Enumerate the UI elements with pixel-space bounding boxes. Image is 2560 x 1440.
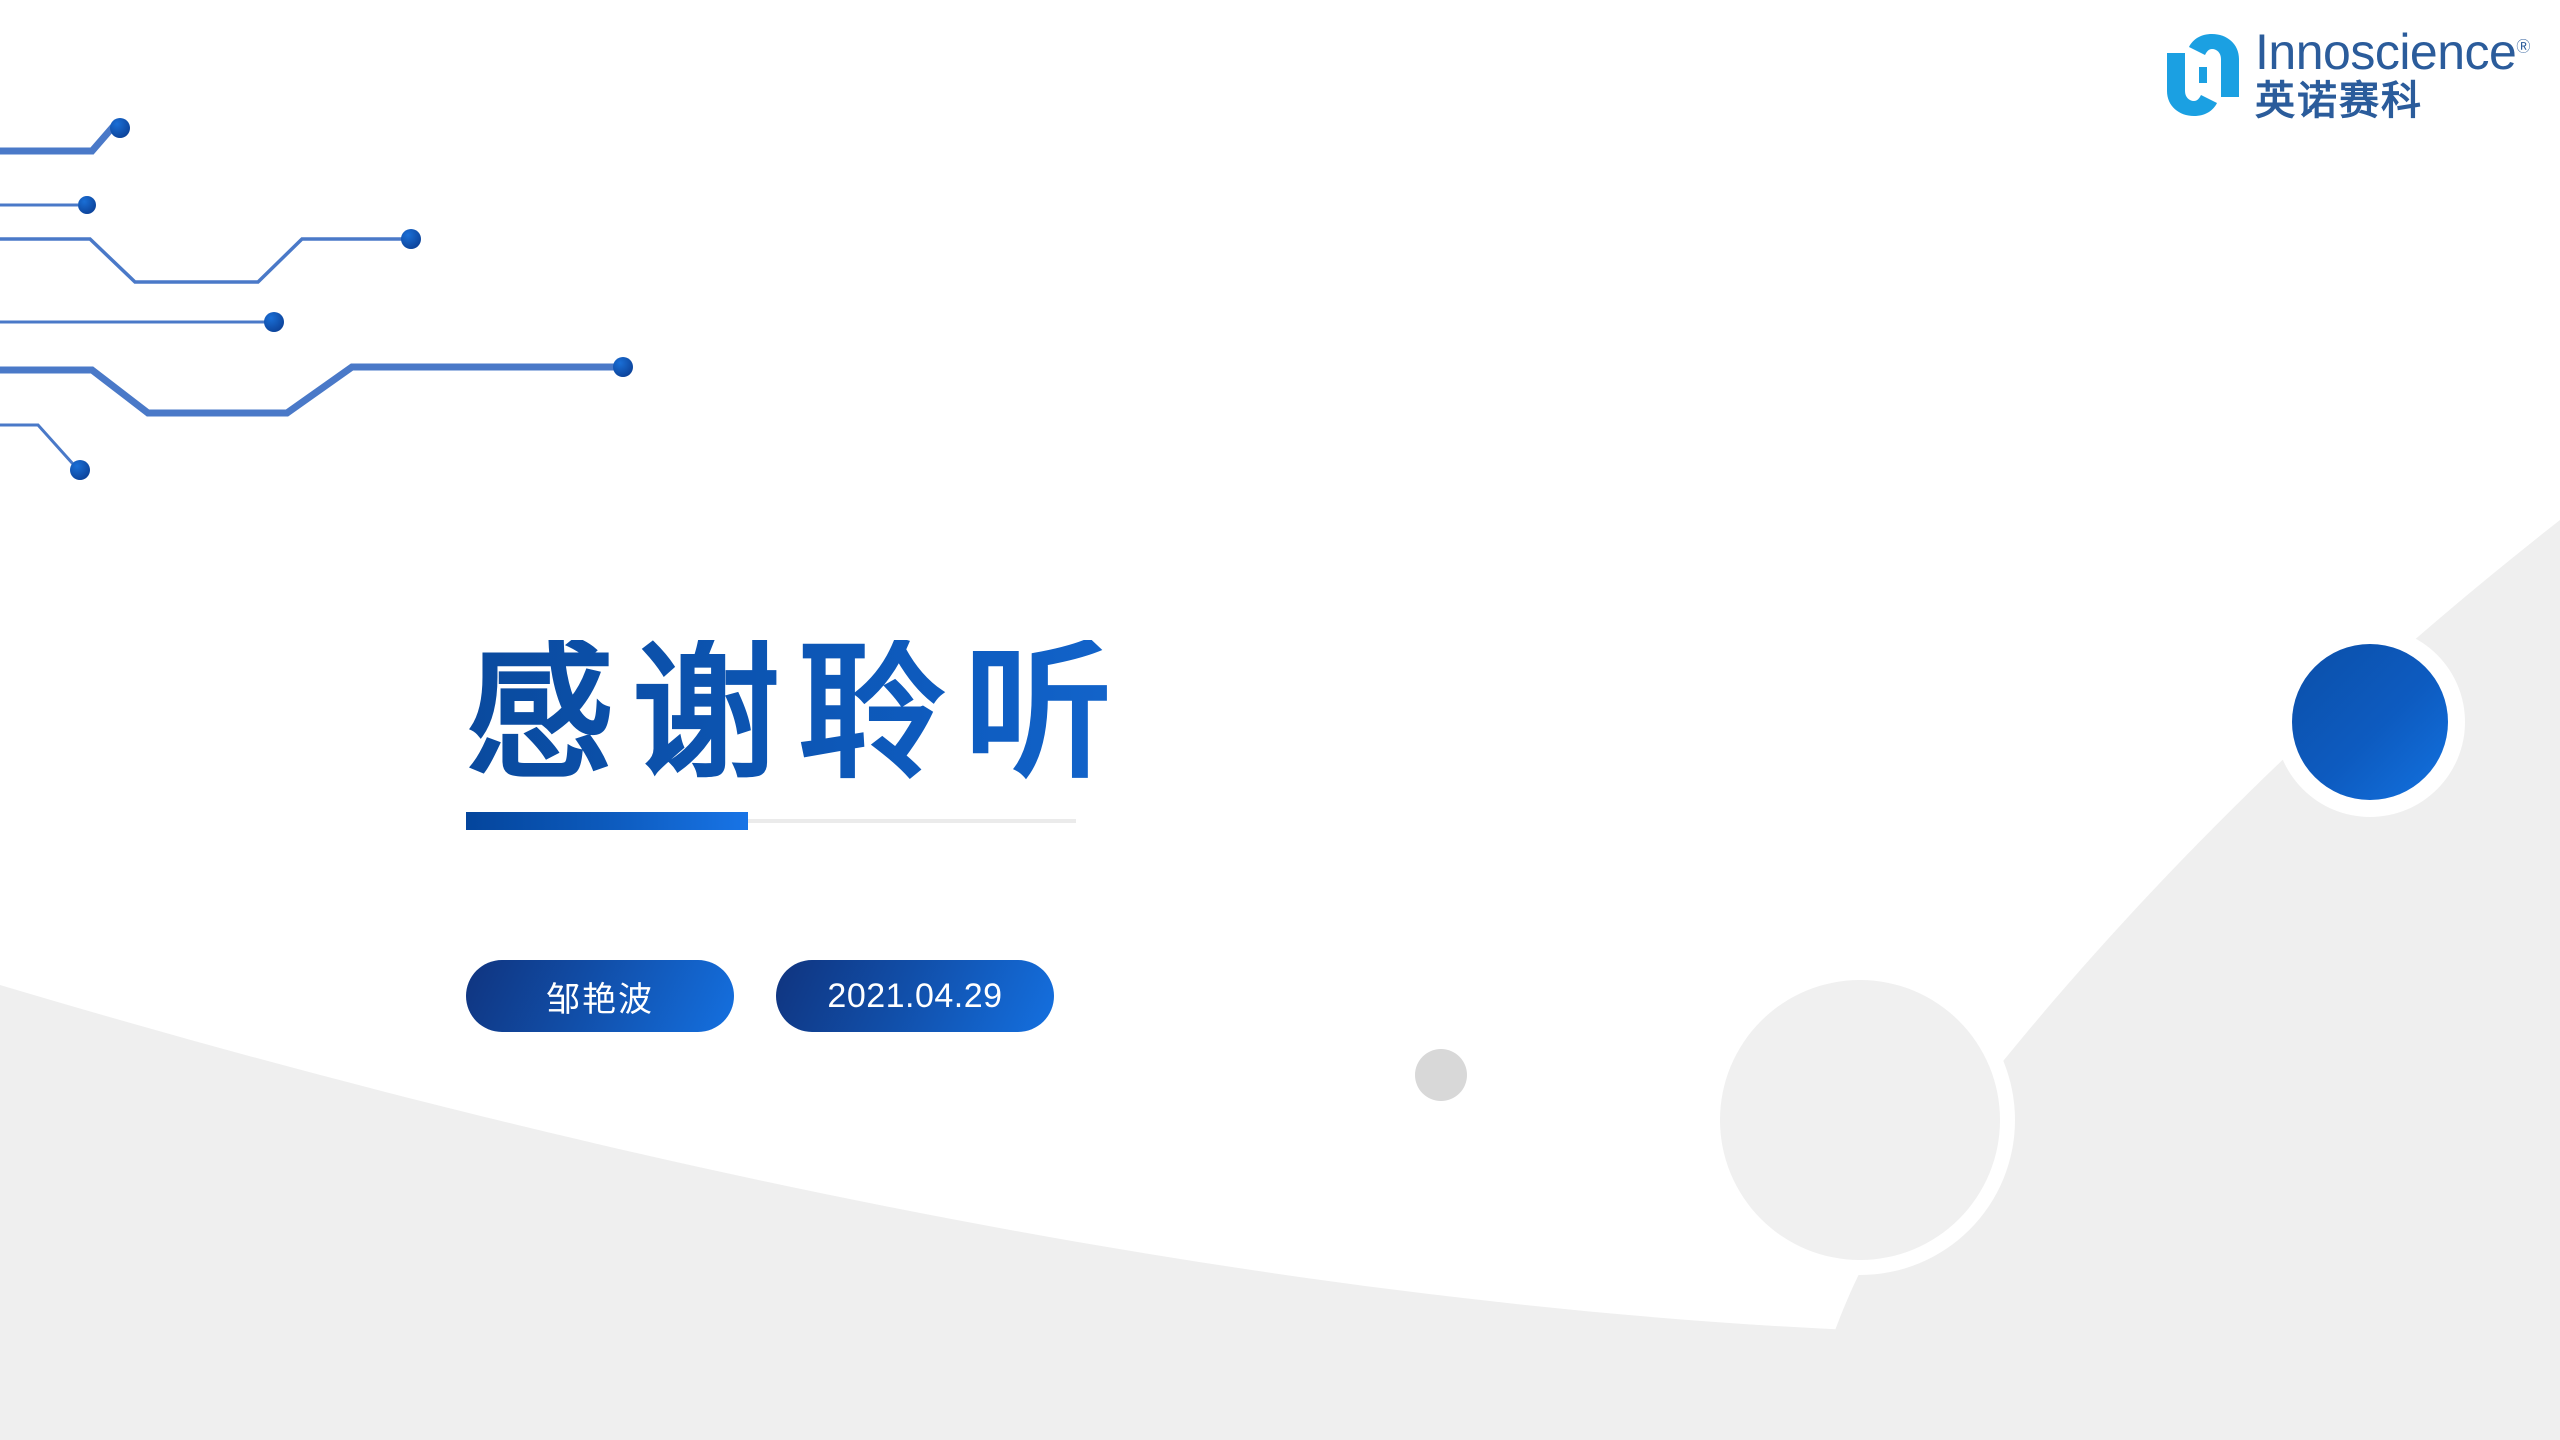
meta-badges: 邹艳波 2021.04.29 <box>466 960 1054 1032</box>
title-block: 感谢聆听 <box>466 640 1566 830</box>
circuit-node-4 <box>264 312 284 332</box>
blue-circle-halo <box>2275 627 2465 817</box>
logo-text-block: InnoscienceⓇ 英诺赛科 <box>2255 27 2530 122</box>
decorative-gray-circle <box>1720 980 2000 1260</box>
gray-circle-halo <box>1705 965 2015 1275</box>
gray-wedge-right <box>1805 520 2560 1440</box>
title-underline <box>466 812 1076 830</box>
circuit-trace-1 <box>0 128 120 151</box>
innoscience-logo-mark-icon <box>2165 33 2241 117</box>
circuit-node-3 <box>401 229 421 249</box>
page-title: 感谢聆听 <box>466 640 1566 788</box>
circuit-trace-decoration <box>0 0 700 520</box>
circuit-node-1 <box>110 118 130 138</box>
title-underline-accent <box>466 812 748 830</box>
logo-wordmark: InnoscienceⓇ <box>2255 27 2530 78</box>
circuit-node-6 <box>70 460 90 480</box>
logo-trademark-icon: Ⓡ <box>2516 38 2530 54</box>
logo-chinese-name: 英诺赛科 <box>2255 80 2530 122</box>
logo-wordmark-text: Innoscience <box>2255 24 2516 80</box>
circuit-trace-6 <box>0 425 73 464</box>
presentation-slide: InnoscienceⓇ 英诺赛科 感谢聆听 邹艳波 2021.04.29 <box>0 0 2560 1440</box>
company-logo: InnoscienceⓇ 英诺赛科 <box>2165 22 2525 127</box>
date-badge: 2021.04.29 <box>776 960 1054 1032</box>
gray-sweep-bottom <box>0 985 2560 1440</box>
circuit-trace-5 <box>0 367 615 413</box>
decorative-gray-dot <box>1415 1049 1467 1101</box>
decorative-blue-circle <box>2292 644 2448 800</box>
circuit-node-2 <box>78 196 96 214</box>
circuit-trace-3 <box>0 239 402 282</box>
circuit-node-5 <box>613 357 633 377</box>
author-badge: 邹艳波 <box>466 960 734 1032</box>
